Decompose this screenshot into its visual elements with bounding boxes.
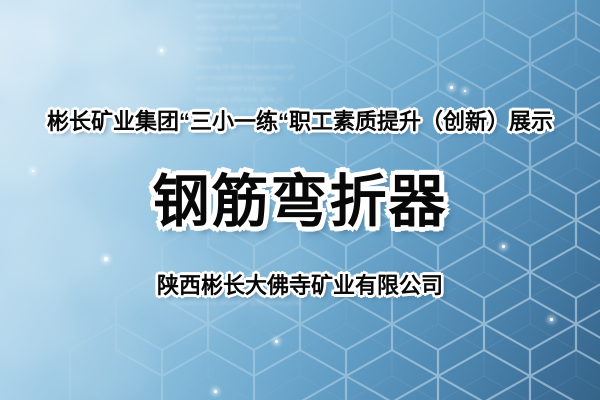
slide-content: 彬长矿业集团“三小一练“职工素质提升（创新）展示 钢筋弯折器 陕西彬长大佛寺矿业… (0, 0, 600, 400)
slide-main-title: 钢筋弯折器 (153, 156, 448, 238)
slide-canvas: technology human talent is king and crea… (0, 0, 600, 400)
slide-company-name: 陕西彬长大佛寺矿业有限公司 (157, 268, 443, 300)
slide-subtitle: 彬长矿业集团“三小一练“职工素质提升（创新）展示 (47, 104, 553, 136)
